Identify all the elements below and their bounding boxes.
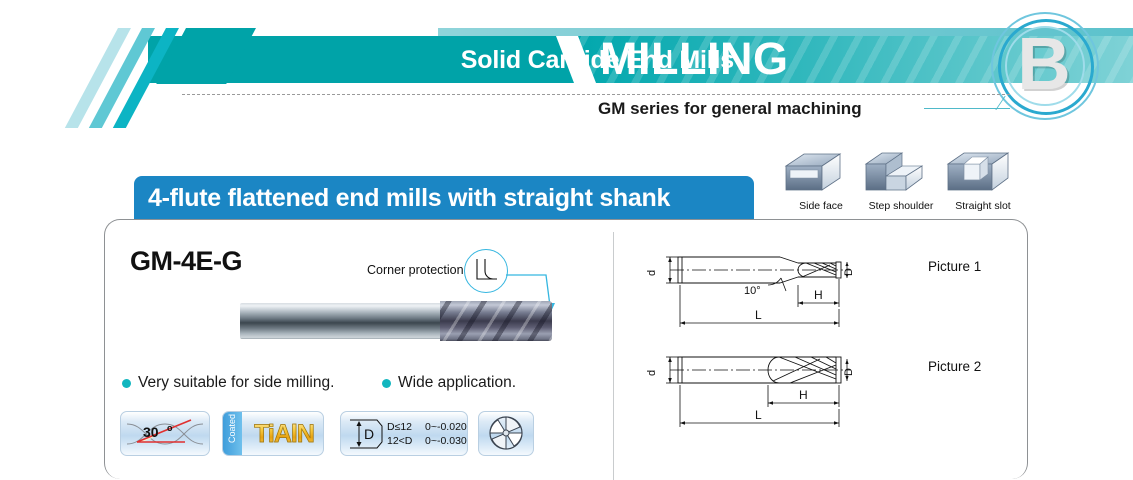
spec-tolerance: D D≤120~-0.020 12<D0~-0.030 bbox=[340, 411, 468, 456]
product-code: GM-4E-G bbox=[130, 245, 242, 277]
helix-angle-value: 30 bbox=[143, 424, 159, 440]
tool-shank bbox=[240, 303, 445, 339]
operation-side-face: Side face bbox=[782, 148, 860, 218]
end-mill-photo bbox=[240, 297, 550, 345]
card-vertical-divider bbox=[613, 232, 614, 480]
header-subtitle: GM series for general machining bbox=[598, 98, 938, 120]
dim-H-label: H bbox=[814, 288, 823, 302]
tolerance-value: 0~-0.030 bbox=[425, 435, 467, 449]
feature-item: Wide application. bbox=[382, 372, 516, 394]
dim-L-label: L bbox=[755, 308, 762, 322]
tolerance-row: D≤120~-0.020 bbox=[387, 421, 467, 435]
catalog-page: Solid Carbide End Mills MILLING B GM ser… bbox=[0, 0, 1133, 460]
tolerance-symbol: D bbox=[364, 426, 374, 442]
page-header: Solid Carbide End Mills MILLING B GM ser… bbox=[0, 0, 1133, 120]
corner-protection-label: Corner protection bbox=[367, 262, 464, 278]
header-category: MILLING bbox=[600, 31, 990, 87]
dim-d-label: d bbox=[646, 370, 658, 376]
operation-icons: Side face Step shoulder Straig bbox=[782, 148, 1032, 218]
spec-helix-angle: 30 o bbox=[120, 411, 210, 456]
operation-label: Straight slot bbox=[940, 200, 1026, 213]
dim-D-label: D bbox=[843, 368, 855, 376]
operation-label: Side face bbox=[782, 200, 860, 213]
dim-L-label: L bbox=[755, 408, 762, 422]
feature-item: Very suitable for side milling. bbox=[122, 372, 334, 394]
coating-name: TiAlN bbox=[245, 418, 323, 450]
section-title-bar: 4-flute flattened end mills with straigh… bbox=[134, 176, 754, 220]
diameter-tolerance-icon: D bbox=[347, 418, 385, 450]
tolerance-rows: D≤120~-0.020 12<D0~-0.030 bbox=[387, 421, 467, 448]
side-face-icon bbox=[782, 148, 860, 198]
four-flute-cross-section-icon bbox=[479, 412, 533, 455]
feature-text: Very suitable for side milling. bbox=[138, 374, 334, 391]
header-diagonal-stripes bbox=[100, 28, 250, 113]
technical-drawing-picture-1: d D 10° H L bbox=[640, 245, 890, 340]
tolerance-range: D≤12 bbox=[387, 421, 425, 435]
picture-2-label: Picture 2 bbox=[928, 358, 981, 376]
badge-letter-text: B bbox=[1001, 20, 1087, 108]
dim-d-label: d bbox=[646, 270, 658, 276]
bullet-dot-icon bbox=[382, 379, 391, 388]
section-letter-badge: B bbox=[989, 12, 1101, 116]
tolerance-range: 12<D bbox=[387, 435, 425, 449]
spec-coating: Coated TiAlN bbox=[222, 411, 324, 456]
tolerance-row: 12<D0~-0.030 bbox=[387, 435, 467, 449]
technical-drawing-picture-2: d D H L bbox=[640, 345, 890, 440]
helix-angle-icon: 30 o bbox=[121, 412, 209, 455]
tool-flutes bbox=[440, 301, 552, 341]
dim-D-label: D bbox=[843, 268, 855, 276]
header-dashed-rule bbox=[182, 94, 1010, 95]
spec-flute-count bbox=[478, 411, 534, 456]
operation-straight-slot: Straight slot bbox=[944, 148, 1022, 218]
tolerance-value: 0~-0.020 bbox=[425, 421, 467, 435]
operation-label: Step shoulder bbox=[858, 200, 944, 213]
feature-list: Very suitable for side milling. Wide app… bbox=[122, 372, 552, 394]
coating-tab-label: Coated bbox=[227, 411, 238, 450]
straight-slot-icon bbox=[944, 148, 1022, 198]
bullet-dot-icon bbox=[122, 379, 131, 388]
dim-H-label: H bbox=[799, 388, 808, 402]
coating-tab: Coated bbox=[223, 412, 242, 455]
helix-angle-unit: o bbox=[167, 423, 173, 433]
section-title-text: 4-flute flattened end mills with straigh… bbox=[148, 183, 744, 213]
operation-step-shoulder: Step shoulder bbox=[862, 148, 940, 218]
picture-1-label: Picture 1 bbox=[928, 258, 981, 276]
feature-text: Wide application. bbox=[398, 374, 516, 391]
dim-angle-label: 10° bbox=[744, 285, 761, 297]
step-shoulder-icon bbox=[862, 148, 940, 198]
